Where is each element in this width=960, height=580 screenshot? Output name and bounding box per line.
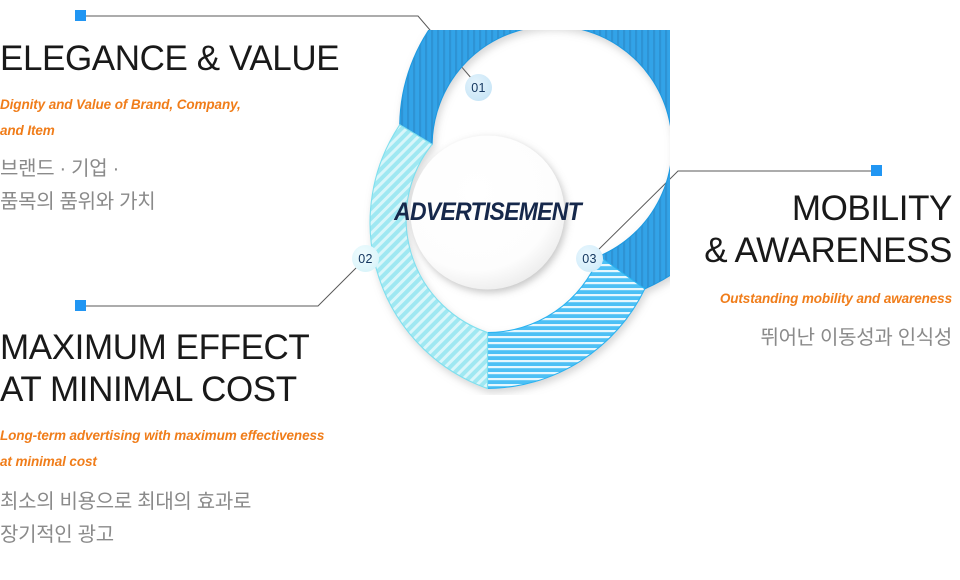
- callout-korean-elegance-line2: 품목의 품위와 가치: [0, 186, 360, 219]
- infographic-canvas: ADVERTISEMENT 01 02 03 ELEGANCE & VALUE …: [0, 0, 960, 580]
- callout-subtitle-maximum-line2: at minimal cost: [0, 449, 400, 475]
- segment-badge-01-label: 01: [471, 81, 486, 95]
- callout-subtitle-mobility-line1: Outstanding mobility and awareness: [600, 286, 952, 312]
- callout-korean-elegance-line1: 브랜드 · 기업 ·: [0, 153, 360, 186]
- callout-korean-elegance: 브랜드 · 기업 · 품목의 품위와 가치: [0, 153, 360, 219]
- callout-korean-maximum: 최소의 비용으로 최대의 효과로 장기적인 광고: [0, 486, 400, 552]
- callout-title-maximum-line1: MAXIMUM EFFECT: [0, 327, 400, 369]
- segment-badge-03-label: 03: [582, 252, 597, 266]
- callout-subtitle-elegance: Dignity and Value of Brand, Company, and…: [0, 92, 360, 144]
- callout-korean-maximum-line1: 최소의 비용으로 최대의 효과로: [0, 486, 400, 519]
- callout-korean-maximum-line2: 장기적인 광고: [0, 519, 400, 552]
- callout-korean-mobility-line1: 뛰어난 이동성과 인식성: [600, 322, 952, 355]
- callout-subtitle-elegance-line2: and Item: [0, 118, 360, 144]
- callout-elegance-and-value: ELEGANCE & VALUE Dignity and Value of Br…: [0, 38, 360, 219]
- callout-title-mobility-line2: & AWARENESS: [600, 230, 952, 272]
- callout-title-maximum: MAXIMUM EFFECT AT MINIMAL COST: [0, 327, 400, 411]
- callout-maximum-effect: MAXIMUM EFFECT AT MINIMAL COST Long-term…: [0, 327, 400, 552]
- callout-subtitle-maximum-line1: Long-term advertising with maximum effec…: [0, 423, 400, 449]
- callout-subtitle-maximum: Long-term advertising with maximum effec…: [0, 423, 400, 475]
- leader-marker-top-left: [75, 10, 86, 21]
- leader-marker-right: [871, 165, 882, 176]
- callout-korean-mobility: 뛰어난 이동성과 인식성: [600, 322, 952, 355]
- donut-hub: [411, 136, 565, 290]
- callout-subtitle-mobility: Outstanding mobility and awareness: [600, 286, 952, 312]
- callout-title-mobility: MOBILITY & AWARENESS: [600, 188, 952, 272]
- segment-badge-01[interactable]: 01: [465, 74, 492, 101]
- callout-title-mobility-line1: MOBILITY: [600, 188, 952, 230]
- segment-badge-03[interactable]: 03: [576, 245, 603, 272]
- callout-mobility-and-awareness: MOBILITY & AWARENESS Outstanding mobilit…: [600, 188, 952, 355]
- callout-subtitle-elegance-line1: Dignity and Value of Brand, Company,: [0, 92, 360, 118]
- callout-title-elegance: ELEGANCE & VALUE: [0, 38, 360, 80]
- segment-badge-02[interactable]: 02: [352, 245, 379, 272]
- segment-badge-02-label: 02: [358, 252, 373, 266]
- callout-title-maximum-line2: AT MINIMAL COST: [0, 369, 400, 411]
- leader-marker-mid-left: [75, 300, 86, 311]
